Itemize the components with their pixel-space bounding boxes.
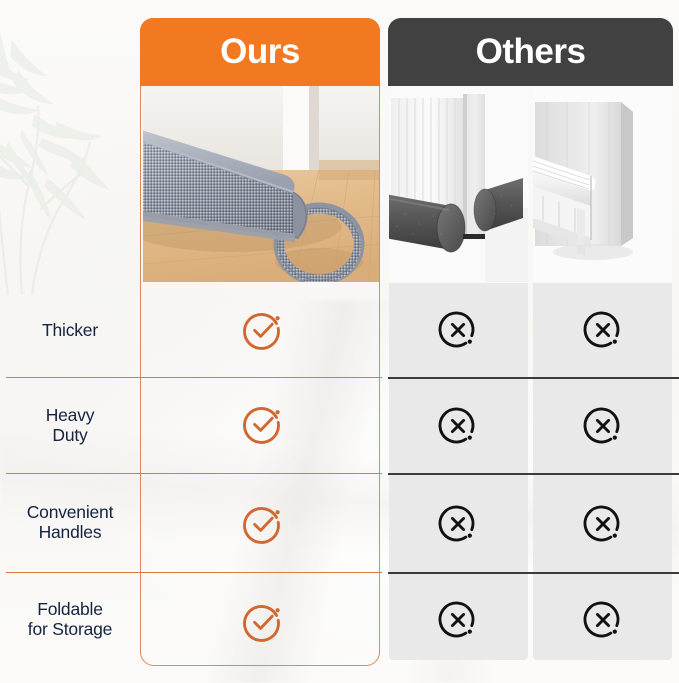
circle-cross-icon (438, 406, 478, 446)
circle-cross-icon (583, 310, 623, 350)
others-column-header: Others (388, 18, 673, 86)
feature-label-text: Heavy Duty (46, 406, 95, 445)
others-product-photo-1 (389, 88, 528, 282)
ours-product-photo (143, 86, 379, 282)
row-divider-orange-3 (6, 572, 382, 573)
others-header-label: Others (476, 32, 586, 72)
row-divider-orange-2 (6, 473, 382, 474)
circle-cross-icon (583, 504, 623, 544)
circle-cross-icon (438, 504, 478, 544)
circle-check-icon (243, 602, 283, 642)
row-divider-orange-1 (6, 377, 382, 378)
feature-label-column: Thicker Heavy Duty Convenient Handles Fo… (0, 0, 140, 683)
feature-label-heavy-duty: Heavy Duty (6, 378, 134, 473)
circle-cross-icon (438, 310, 478, 350)
feature-label-thicker: Thicker (6, 284, 134, 377)
ours-column-header: Ours (140, 18, 380, 86)
circle-check-icon (243, 504, 283, 544)
others-product-photo-2 (533, 88, 672, 282)
circle-check-icon (243, 310, 283, 350)
circle-cross-icon (583, 406, 623, 446)
comparison-chart-page: Thicker Heavy Duty Convenient Handles Fo… (0, 0, 679, 683)
circle-check-icon (243, 404, 283, 444)
feature-label-text: Convenient Handles (27, 503, 114, 542)
feature-label-text: Foldable for Storage (28, 600, 112, 639)
comparison-table: Thicker Heavy Duty Convenient Handles Fo… (0, 0, 679, 683)
feature-label-convenient-handles: Convenient Handles (6, 474, 134, 572)
circle-cross-icon (438, 600, 478, 640)
circle-cross-icon (583, 600, 623, 640)
feature-label-foldable-for-storage: Foldable for Storage (6, 573, 134, 667)
ours-header-label: Ours (220, 32, 300, 72)
feature-label-text: Thicker (42, 321, 98, 341)
